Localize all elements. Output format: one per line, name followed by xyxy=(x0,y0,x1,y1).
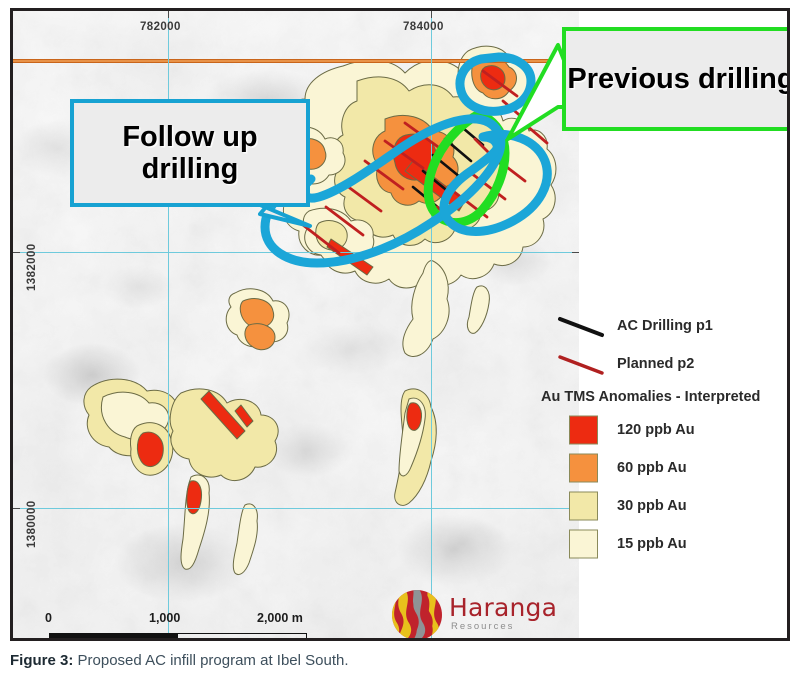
legend-label-ac-drilling-p1: AC Drilling p1 xyxy=(617,318,713,334)
scale-bar: 0 1,000 2,000 m xyxy=(49,611,307,641)
figure-caption: Figure 3: Proposed AC infill program at … xyxy=(10,652,790,669)
legend-anomalies-title: Au TMS Anomalies - Interpreted xyxy=(541,389,790,405)
legend-item-15ppb: 15 ppb Au xyxy=(541,525,790,563)
planned-line-symbol xyxy=(555,353,609,377)
legend-item-120ppb: 120 ppb Au xyxy=(541,411,790,449)
legend-item-ac-drilling-p1: AC Drilling p1 xyxy=(541,307,790,345)
legend-item-60ppb: 60 ppb Au xyxy=(541,449,790,487)
ac-drilling-line-symbol xyxy=(555,315,609,339)
swatch-120ppb xyxy=(569,416,598,445)
legend-item-30ppb: 30 ppb Au xyxy=(541,487,790,525)
legend-label-planned-p2: Planned p2 xyxy=(617,356,694,372)
legend-label-120ppb: 120 ppb Au xyxy=(617,422,695,438)
swatch-15ppb xyxy=(569,530,598,559)
scale-label-0: 0 xyxy=(45,611,52,625)
callout-previous-drilling: Previous drilling xyxy=(562,27,790,131)
logo-name: Haranga xyxy=(449,593,557,622)
figure-caption-text: Proposed AC infill program at Ibel South… xyxy=(73,652,348,669)
legend-item-planned-p2: Planned p2 xyxy=(541,345,790,383)
legend-label-15ppb: 15 ppb Au xyxy=(617,536,687,552)
legend-label-60ppb: 60 ppb Au xyxy=(617,460,687,476)
figure-frame: 782000 784000 1382000 1380000 xyxy=(10,8,790,641)
figure-caption-label: Figure 3: xyxy=(10,652,73,669)
logo-tagline: Resources xyxy=(451,621,514,632)
haranga-logo: Haranga Resources xyxy=(391,589,563,641)
scale-bar-filled-segment xyxy=(50,634,178,641)
scale-label-2000: 2,000 m xyxy=(257,611,303,625)
swatch-60ppb xyxy=(569,454,598,483)
legend-label-30ppb: 30 ppb Au xyxy=(617,498,687,514)
scale-label-1000: 1,000 xyxy=(149,611,180,625)
callout-follow-up-drilling: Follow up drilling xyxy=(70,99,310,207)
haranga-logo-mark xyxy=(391,589,443,641)
swatch-30ppb xyxy=(569,492,598,521)
map-legend: AC Drilling p1 Planned p2 Au TMS Anomali… xyxy=(541,307,790,563)
scale-bar-track xyxy=(49,633,307,641)
